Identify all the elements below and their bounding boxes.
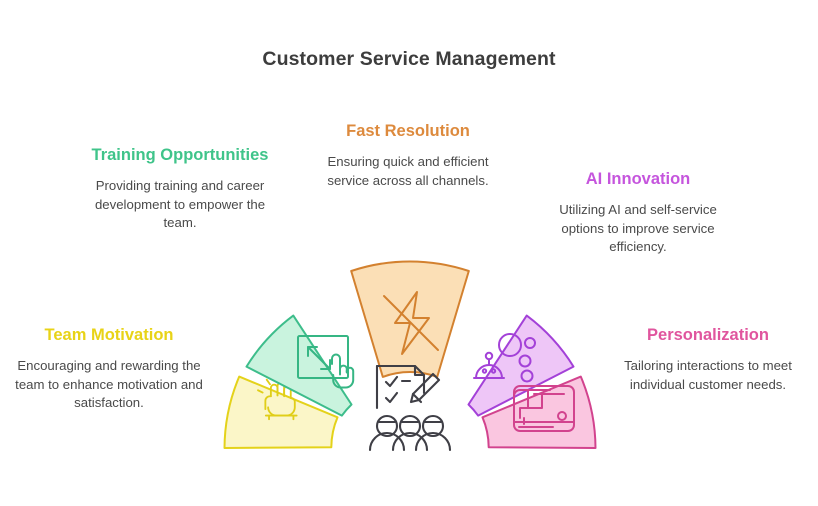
heading-team-motivation: Team Motivation bbox=[8, 324, 210, 347]
heading-personalization: Personalization bbox=[608, 324, 808, 347]
heading-ai-innovation: AI Innovation bbox=[545, 168, 731, 191]
body-training-opportunities: Providing training and career developmen… bbox=[82, 177, 278, 233]
page-title: Customer Service Management bbox=[0, 48, 818, 71]
fan-segment-fast-resolution[interactable] bbox=[351, 261, 469, 376]
body-fast-resolution: Ensuring quick and efficient service acr… bbox=[310, 153, 506, 190]
body-personalization: Tailoring interactions to meet individua… bbox=[608, 357, 808, 394]
body-team-motivation: Encouraging and rewarding the team to en… bbox=[8, 357, 210, 413]
text-block-training-opportunities: Training Opportunities Providing trainin… bbox=[82, 144, 278, 233]
checklist-pencil-people-icon bbox=[370, 366, 450, 450]
text-block-personalization: Personalization Tailoring interactions t… bbox=[608, 324, 808, 394]
semicircle-fan-diagram bbox=[196, 226, 624, 476]
heading-training-opportunities: Training Opportunities bbox=[82, 144, 278, 167]
text-block-fast-resolution: Fast Resolution Ensuring quick and effic… bbox=[310, 120, 506, 190]
heading-fast-resolution: Fast Resolution bbox=[310, 120, 506, 143]
infographic-canvas: Customer Service Management Training Opp… bbox=[0, 0, 818, 506]
text-block-team-motivation: Team Motivation Encouraging and rewardin… bbox=[8, 324, 210, 413]
